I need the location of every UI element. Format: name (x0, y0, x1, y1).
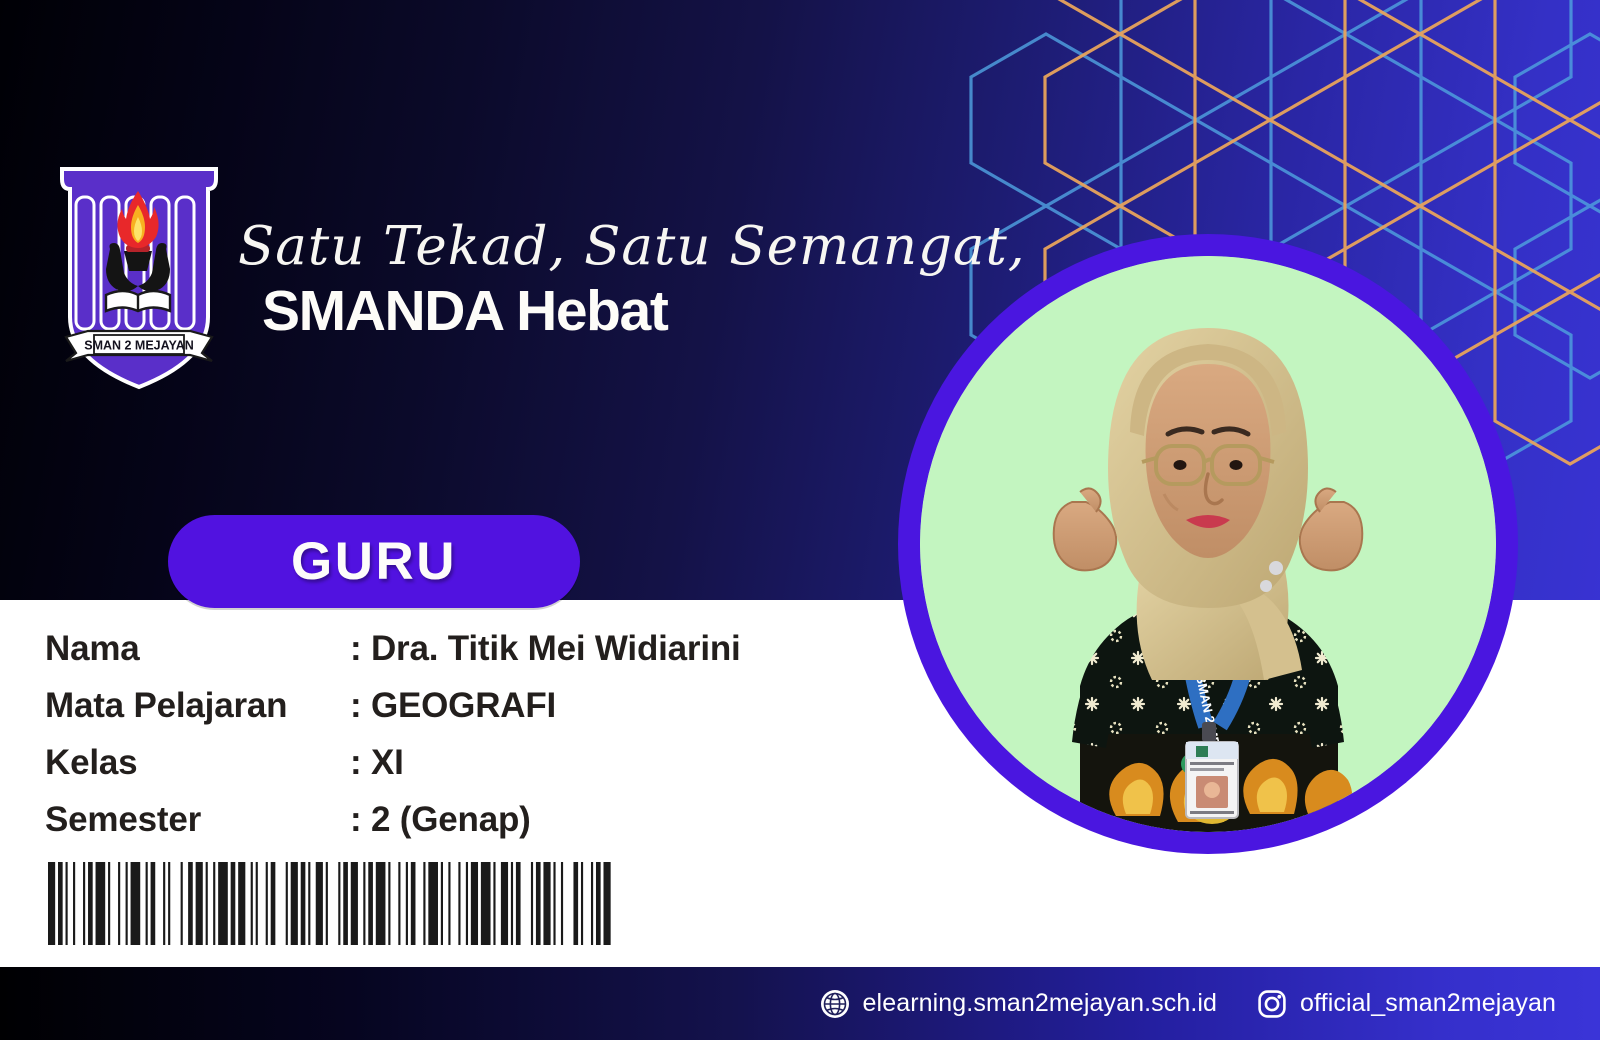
school-crest-logo: SMAN 2 MEJAYAN (48, 155, 230, 395)
role-badge: GURU (168, 515, 580, 608)
footer-bar: elearning.sman2mejayan.sch.id official_s… (0, 967, 1600, 1040)
globe-icon (820, 989, 850, 1019)
info-row-mata-pelajaran: Mata Pelajaran : GEOGRAFI (45, 677, 845, 734)
footer-instagram[interactable]: official_sman2mejayan (1257, 989, 1556, 1019)
value-nama: : Dra. Titik Mei Widiarini (350, 620, 741, 677)
label-semester: Semester (45, 791, 201, 848)
info-row-nama: Nama : Dra. Titik Mei Widiarini (45, 620, 845, 677)
info-row-kelas: Kelas : XI (45, 734, 845, 791)
footer-website-text: elearning.sman2mejayan.sch.id (863, 989, 1218, 1018)
portrait-disc: SMAN 2 MEJAYAN (920, 256, 1496, 832)
footer-items: elearning.sman2mejayan.sch.id official_s… (820, 967, 1556, 1040)
label-kelas: Kelas (45, 734, 137, 791)
crest-banner-text: SMAN 2 MEJAYAN (84, 339, 194, 353)
footer-instagram-text: official_sman2mejayan (1300, 989, 1556, 1018)
barcode (48, 862, 616, 945)
tagline-line2: SMANDA Hebat (262, 278, 667, 344)
value-kelas: : XI (350, 734, 404, 791)
footer-website[interactable]: elearning.sman2mejayan.sch.id (820, 989, 1218, 1019)
instagram-icon (1257, 989, 1287, 1019)
value-mata-pelajaran: : GEOGRAFI (350, 677, 556, 734)
id-card: SMAN 2 MEJAYAN Satu Tekad, Satu Semangat… (0, 0, 1600, 1040)
info-row-semester: Semester : 2 (Genap) (45, 791, 845, 848)
label-nama: Nama (45, 620, 140, 677)
label-mata-pelajaran: Mata Pelajaran (45, 677, 287, 734)
portrait-illustration: SMAN 2 MEJAYAN (920, 256, 1496, 832)
info-fields: Nama : Dra. Titik Mei Widiarini Mata Pel… (45, 620, 845, 848)
value-semester: : 2 (Genap) (350, 791, 531, 848)
role-badge-label: GURU (291, 531, 457, 592)
portrait-photo: SMAN 2 MEJAYAN (898, 234, 1518, 854)
